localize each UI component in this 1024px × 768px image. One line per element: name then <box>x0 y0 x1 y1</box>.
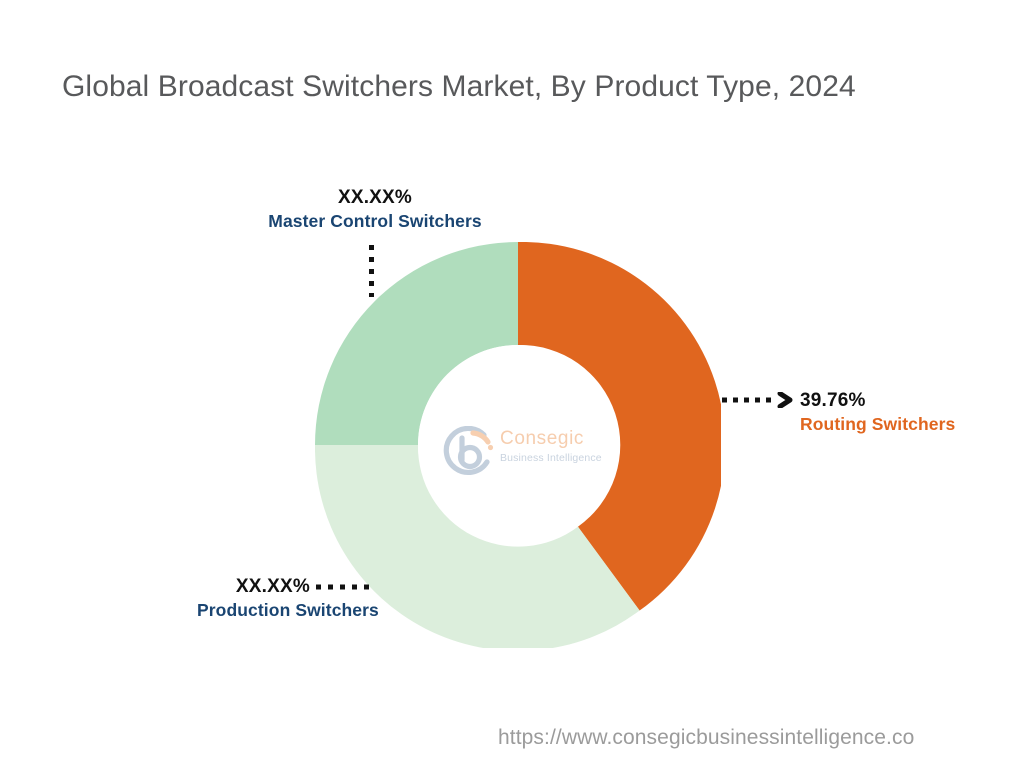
callout-routing-switchers-label: Routing Switchers <box>800 413 955 436</box>
chart-canvas: Global Broadcast Switchers Market, By Pr… <box>0 0 1024 768</box>
callout-master-control-switchers: XX.XX% Master Control Switchers <box>248 186 502 233</box>
leader-line-production-switchers <box>314 582 378 592</box>
callout-routing-switchers-percent: 39.76% <box>800 389 955 413</box>
leader-line-master-control-switchers <box>368 243 375 299</box>
callout-master-control-switchers-percent: XX.XX% <box>248 186 502 210</box>
leader-line-routing-switchers <box>720 392 796 408</box>
chart-title: Global Broadcast Switchers Market, By Pr… <box>62 70 982 104</box>
callout-production-switchers-percent: XX.XX% <box>145 575 310 599</box>
callout-routing-switchers: 39.76% Routing Switchers <box>800 389 955 436</box>
callout-production-switchers: XX.XX% Production Switchers <box>145 575 310 622</box>
donut-center-hole <box>418 345 618 545</box>
callout-production-switchers-label: Production Switchers <box>197 599 362 622</box>
callout-master-control-switchers-label: Master Control Switchers <box>248 210 502 233</box>
source-url: https://www.consegicbusinessintelligence… <box>498 726 914 750</box>
